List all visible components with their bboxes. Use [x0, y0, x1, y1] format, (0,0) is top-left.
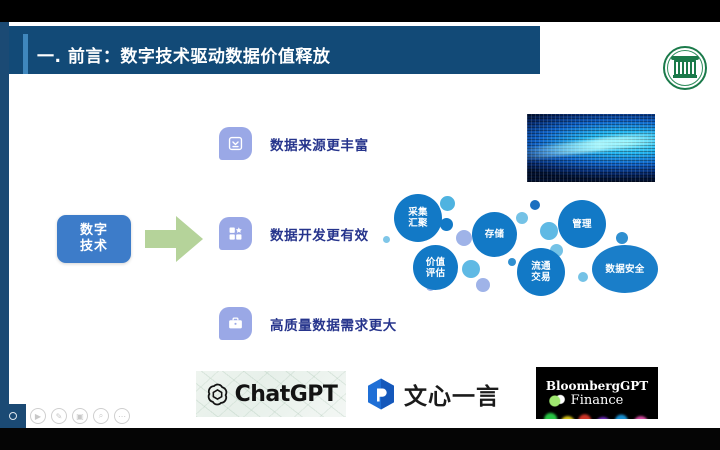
letterbox-bottom	[0, 428, 720, 450]
more-options-button[interactable]: ⋯	[114, 408, 130, 424]
briefcase-icon	[219, 307, 252, 340]
openai-flower-icon	[205, 382, 230, 407]
decor-bubble	[516, 212, 528, 224]
play-button[interactable]: ▶	[30, 408, 46, 424]
decor-bubble	[440, 196, 455, 211]
bubble-storage: 存储	[472, 212, 517, 257]
zoom-button[interactable]: ⌕	[93, 408, 109, 424]
feature-label: 高质量数据需求更大	[270, 314, 397, 334]
bubble-label: 采集汇聚	[408, 207, 428, 229]
feature-label: 数据开发更有效	[270, 224, 369, 244]
digital-data-stream-image	[527, 114, 655, 182]
feature-row-data-sources: 数据来源更丰富	[219, 127, 369, 160]
seal-columns-icon	[676, 62, 694, 74]
decor-bubble	[476, 278, 490, 292]
letterbox-top	[0, 0, 720, 22]
data-lifecycle-bubble-cluster: 采集汇聚存储管理价值评估流通交易数据安全	[380, 190, 680, 310]
digital-technology-box: 数字技术	[57, 215, 131, 263]
decor-bubble	[530, 200, 540, 210]
slide-left-accent-strip	[0, 22, 9, 428]
bubble-label: 数据安全	[605, 264, 644, 275]
chatgpt-logo-text: ChatGPT	[235, 382, 338, 407]
bubble-label: 流通交易	[531, 261, 551, 283]
bubble-manage: 管理	[558, 200, 606, 248]
slide-title-bar: 一. 前言：数字技术驱动数据价值释放	[9, 26, 540, 74]
tech-line-1: 数字	[80, 223, 108, 238]
bloomberg-finance-text: Finance	[571, 393, 624, 408]
right-arrow-icon	[143, 208, 205, 270]
inbox-download-icon	[219, 127, 252, 160]
bubble-value: 价值评估	[413, 245, 458, 290]
slide-canvas: 一. 前言：数字技术驱动数据价值释放 数字技术 数据来源更丰富	[0, 22, 720, 428]
bloomberg-logo-leaf-graphic	[546, 393, 568, 409]
decor-bubble	[462, 260, 480, 278]
whiteboard-button[interactable]: ▣	[72, 408, 88, 424]
feature-label: 数据来源更丰富	[270, 134, 369, 154]
university-seal-logo	[663, 46, 707, 90]
previous-slide-button[interactable]	[0, 404, 26, 428]
tech-line-2: 技术	[80, 239, 108, 254]
bubble-label: 价值评估	[426, 257, 446, 279]
presentation-viewport: 一. 前言：数字技术驱动数据价值释放 数字技术 数据来源更丰富	[0, 0, 720, 450]
decor-bubble	[508, 258, 516, 266]
bubble-label: 管理	[572, 219, 592, 230]
decor-bubble	[540, 222, 558, 240]
bubble-security: 数据安全	[592, 245, 658, 293]
decor-bubble	[616, 232, 628, 244]
page-title: 一. 前言：数字技术驱动数据价值释放	[37, 42, 330, 67]
seal-steps-icon	[673, 75, 697, 78]
bubble-label: 存储	[485, 229, 505, 240]
presentation-toolbar[interactable]: ▶✎▣⌕⋯	[0, 404, 720, 428]
title-accent-bar	[23, 34, 28, 74]
grid-blocks-icon	[219, 217, 252, 250]
feature-row-data-development: 数据开发更有效	[219, 217, 369, 250]
decor-bubble	[383, 236, 390, 243]
bubble-collect: 采集汇聚	[394, 194, 442, 242]
bloomberggpt-logo-text: BloombergGPT	[546, 379, 648, 393]
pen-button[interactable]: ✎	[51, 408, 67, 424]
bubble-trade: 流通交易	[517, 248, 565, 296]
decor-bubble	[440, 218, 453, 231]
decor-bubble	[456, 230, 472, 246]
feature-row-data-demand: 高质量数据需求更大	[219, 307, 397, 340]
previous-slide-icon	[9, 412, 17, 420]
digital-technology-label: 数字技术	[80, 223, 108, 255]
decor-bubble	[578, 272, 588, 282]
